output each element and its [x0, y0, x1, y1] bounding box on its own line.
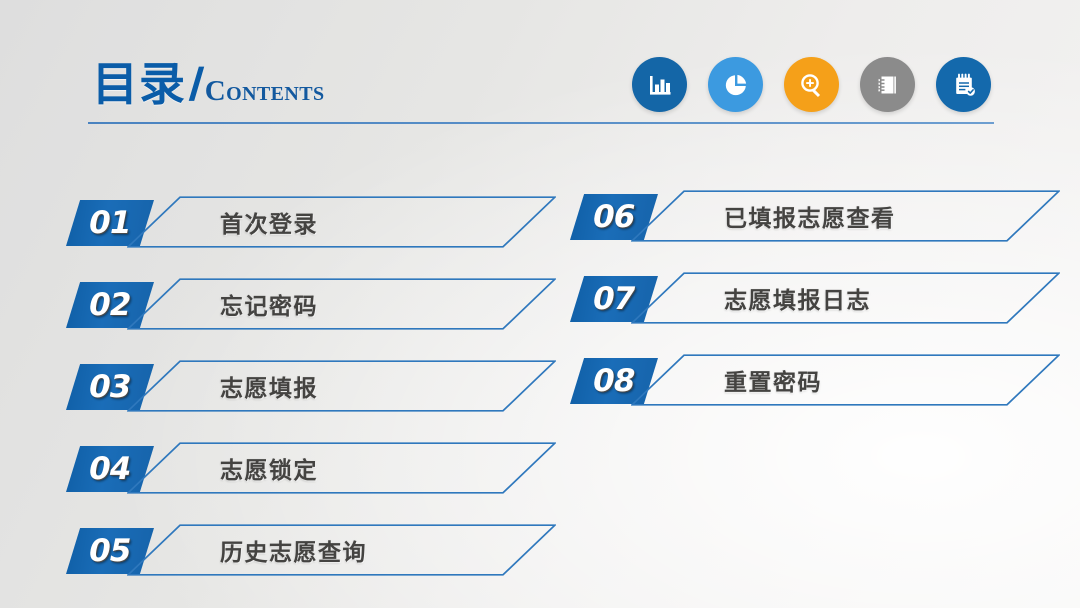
- toc-item-bar-outline: [631, 354, 1060, 406]
- toc-item-label: 历史志愿查询: [220, 524, 367, 576]
- toc-item[interactable]: 02忘记密码: [66, 278, 556, 330]
- header-divider: [88, 122, 994, 124]
- toc-item-bar: 历史志愿查询: [127, 524, 556, 576]
- zoom-in-magnifier-icon[interactable]: [784, 57, 839, 112]
- toc-item-bar: 已填报志愿查看: [631, 190, 1060, 242]
- toc-item-bar: 重置密码: [631, 354, 1060, 406]
- header-icon-row: [632, 57, 991, 112]
- toc-item[interactable]: 06已填报志愿查看: [570, 190, 1060, 242]
- notebook-icon[interactable]: [860, 57, 915, 112]
- title-slash: /: [187, 57, 205, 111]
- checklist-clipboard-icon[interactable]: [936, 57, 991, 112]
- toc-item-bar: 忘记密码: [127, 278, 556, 330]
- toc-item-label: 忘记密码: [220, 278, 318, 330]
- toc-item-label: 志愿锁定: [220, 442, 318, 494]
- toc-item[interactable]: 03志愿填报: [66, 360, 556, 412]
- toc-item[interactable]: 01首次登录: [66, 196, 556, 248]
- toc-item-label: 志愿填报日志: [724, 272, 871, 324]
- toc-item-bar-outline: [127, 278, 556, 330]
- contents-list-right: 06已填报志愿查看07志愿填报日志08重置密码: [570, 190, 1060, 406]
- page-title-cn: 目录: [92, 48, 186, 114]
- toc-item[interactable]: 07志愿填报日志: [570, 272, 1060, 324]
- toc-item-bar: 志愿锁定: [127, 442, 556, 494]
- toc-item-bar-outline: [127, 196, 556, 248]
- toc-item-bar: 志愿填报: [127, 360, 556, 412]
- pie-chart-icon[interactable]: [708, 57, 763, 112]
- header: 目录 / Contents: [0, 0, 1080, 130]
- toc-item[interactable]: 04志愿锁定: [66, 442, 556, 494]
- toc-item-bar-outline: [127, 442, 556, 494]
- toc-item[interactable]: 08重置密码: [570, 354, 1060, 406]
- toc-item-label: 首次登录: [220, 196, 318, 248]
- contents-list-left: 01首次登录02忘记密码03志愿填报04志愿锁定05历史志愿查询: [66, 196, 556, 576]
- toc-item-label: 已填报志愿查看: [724, 190, 896, 242]
- toc-item-label: 重置密码: [724, 354, 822, 406]
- toc-item-bar: 首次登录: [127, 196, 556, 248]
- toc-item-bar: 志愿填报日志: [631, 272, 1060, 324]
- toc-item-label: 志愿填报: [220, 360, 318, 412]
- toc-item[interactable]: 05历史志愿查询: [66, 524, 556, 576]
- page-title-en: Contents: [205, 75, 325, 108]
- toc-item-bar-outline: [127, 360, 556, 412]
- page-title: 目录 / Contents: [92, 48, 325, 114]
- bar-chart-icon[interactable]: [632, 57, 687, 112]
